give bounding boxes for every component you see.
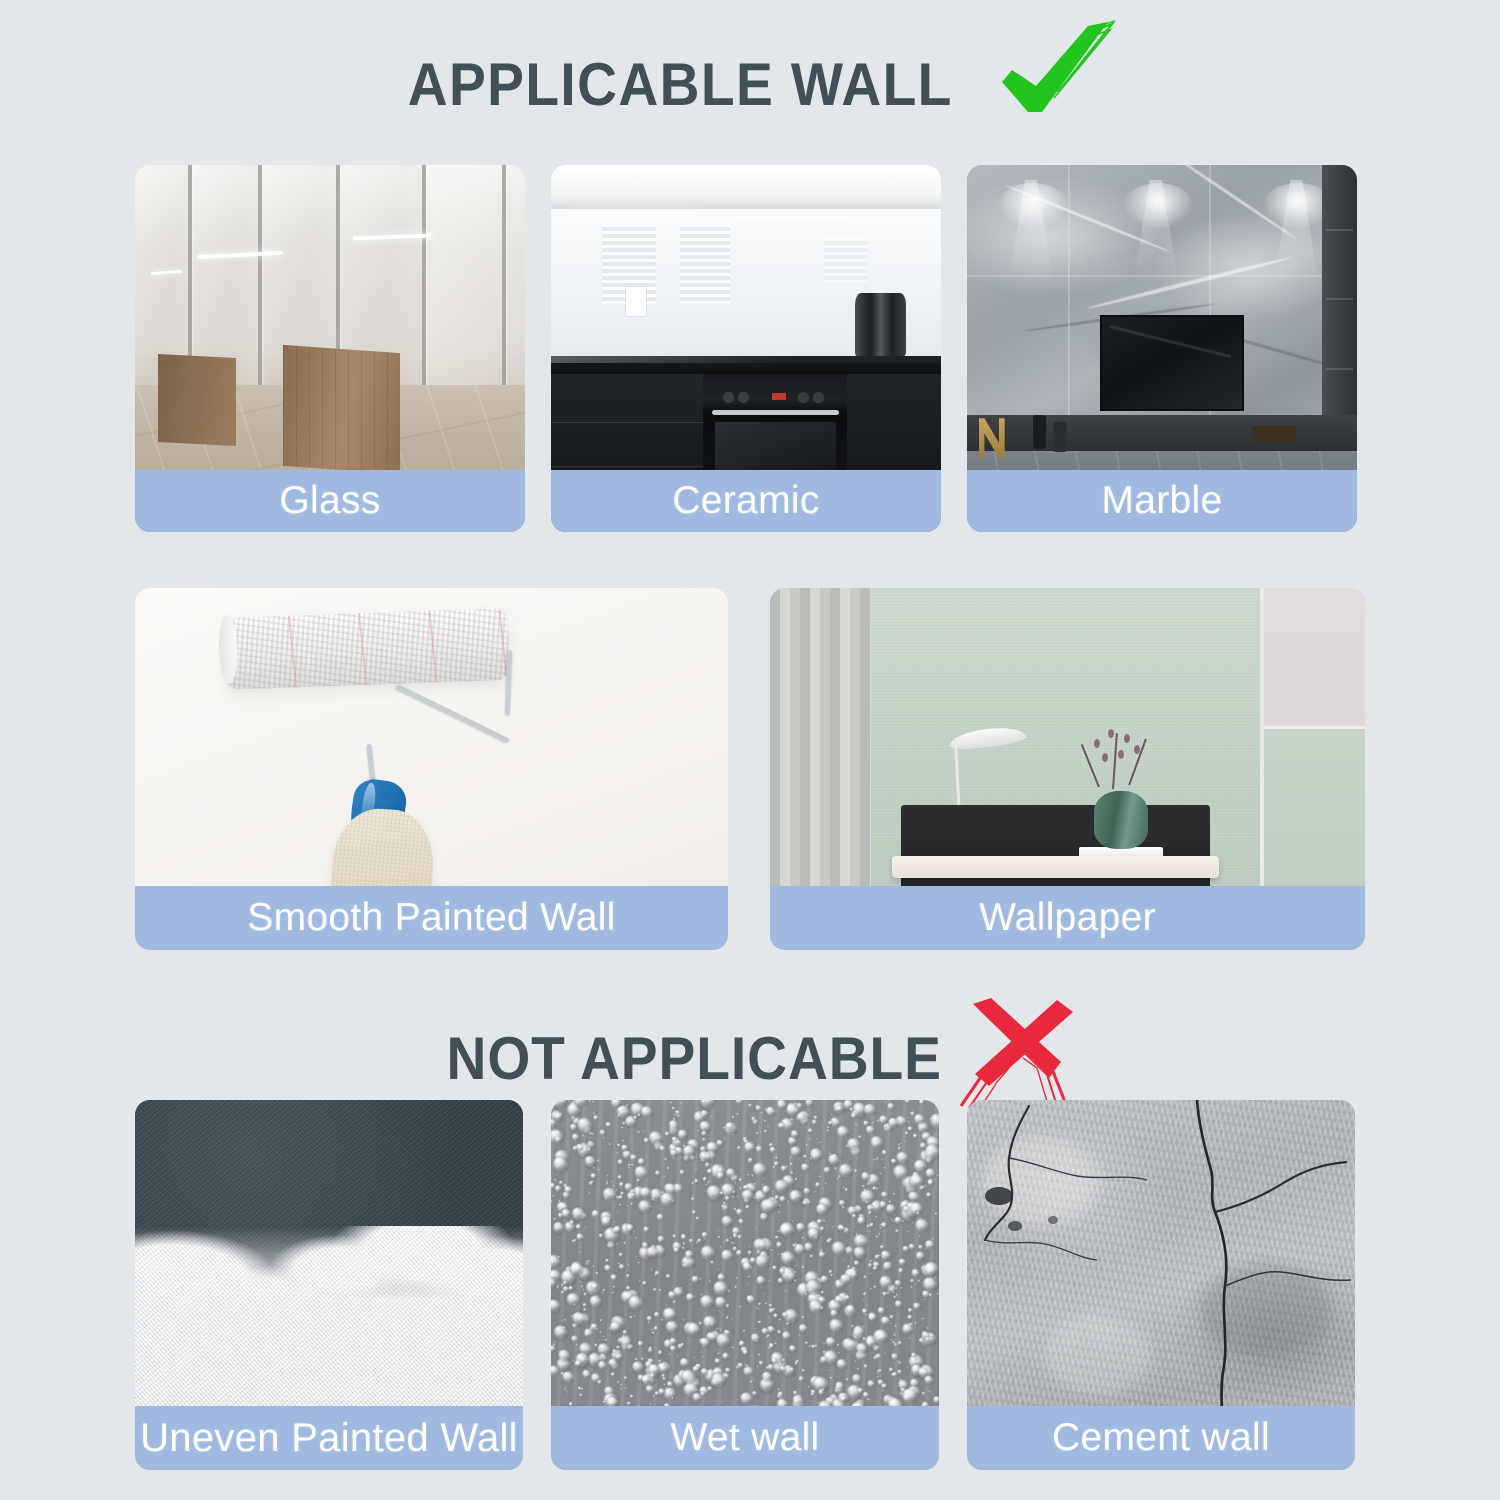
- page-title-applicable: APPLICABLE WALL: [407, 55, 952, 115]
- card-label-cement-wall: Cement wall: [967, 1406, 1355, 1470]
- card-wet-wall: Wet wall: [551, 1100, 939, 1470]
- cross-mark-icon: [957, 998, 1075, 1110]
- card-label-wet-wall: Wet wall: [551, 1406, 939, 1470]
- card-label-uneven-painted-wall: Uneven Painted Wall: [135, 1406, 523, 1470]
- card-label-smooth-painted-wall: Smooth Painted Wall: [135, 886, 728, 950]
- card-marble: Marble: [967, 165, 1357, 532]
- not-applicable-heading: NOT APPLICABLE: [0, 1008, 1500, 1110]
- card-ceramic: Ceramic: [551, 165, 941, 532]
- card-label-marble: Marble: [967, 470, 1357, 532]
- card-label-ceramic: Ceramic: [551, 470, 941, 532]
- card-glass: Glass: [135, 165, 525, 532]
- card-uneven-painted-wall: Uneven Painted Wall: [135, 1100, 523, 1470]
- applicable-wall-heading: APPLICABLE WALL: [0, 46, 1500, 124]
- check-mark-icon: [996, 20, 1116, 124]
- card-cement-wall: Cement wall: [967, 1100, 1355, 1470]
- card-wallpaper: Wallpaper: [770, 588, 1365, 950]
- card-label-wallpaper: Wallpaper: [770, 886, 1365, 950]
- card-label-glass: Glass: [135, 470, 525, 532]
- card-smooth-painted-wall: Smooth Painted Wall: [135, 588, 728, 950]
- page-title-not-applicable: NOT APPLICABLE: [446, 1029, 941, 1089]
